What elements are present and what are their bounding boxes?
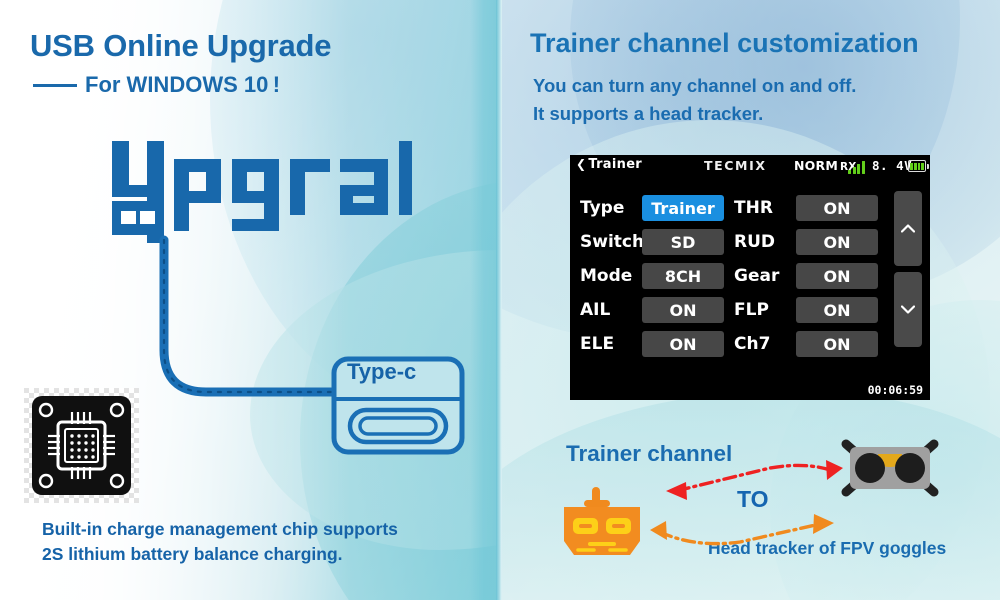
row-label-left: ELE <box>580 334 642 354</box>
row-value-left[interactable]: ON <box>642 331 724 357</box>
arrow-orange-dashdot-icon <box>650 514 834 544</box>
row-label-right: THR <box>724 198 796 218</box>
screen-status-bar: ❮Trainer TECMIX NORMRX 8. 4V <box>570 155 930 179</box>
mode-text: NORM <box>794 158 838 173</box>
chip-icon <box>24 388 139 508</box>
row-value-right[interactable]: ON <box>796 263 878 289</box>
right-title: Trainer channel customization <box>530 28 919 59</box>
chevron-down-icon <box>901 305 915 314</box>
row-label-right: FLP <box>724 300 796 320</box>
type-c-port-icon: Type-c <box>330 355 470 465</box>
right-subtitle-line1: You can turn any channel on and off. <box>533 72 856 100</box>
right-subtitle-line2: It supports a head tracker. <box>533 100 856 128</box>
table-row: AIL ON FLP ON <box>580 293 884 327</box>
back-button-label: Trainer <box>588 157 642 172</box>
settings-grid: Type Trainer THR ON Switch SD RUD ON Mod… <box>580 191 884 361</box>
row-label-left: AIL <box>580 300 642 320</box>
row-value-left[interactable]: SD <box>642 229 724 255</box>
left-caption: Built-in charge management chip supports… <box>42 517 398 568</box>
battery-full-icon <box>908 160 926 172</box>
row-value-left[interactable]: ON <box>642 297 724 323</box>
scroll-buttons <box>894 191 922 347</box>
row-value-left[interactable]: Trainer <box>642 195 724 221</box>
row-label-right: Gear <box>724 266 796 286</box>
row-label-right: RUD <box>724 232 796 252</box>
usb-cable-icon <box>0 0 500 600</box>
connector-label: Type-c <box>347 359 416 385</box>
left-caption-line1: Built-in charge management chip supports <box>42 517 398 542</box>
table-row: Switch SD RUD ON <box>580 225 884 259</box>
scroll-up-button[interactable] <box>894 191 922 266</box>
row-value-right[interactable]: ON <box>796 195 878 221</box>
back-button[interactable]: ❮Trainer <box>576 157 642 172</box>
table-row: ELE ON Ch7 ON <box>580 327 884 361</box>
row-label-right: Ch7 <box>724 334 796 354</box>
right-subtitle: You can turn any channel on and off. It … <box>533 72 856 128</box>
chevron-left-icon: ❮ <box>576 157 586 171</box>
row-value-right[interactable]: ON <box>796 297 878 323</box>
signal-bars-icon <box>848 161 865 174</box>
fpv-goggles-icon <box>838 436 942 505</box>
table-row: Mode 8CH Gear ON <box>580 259 884 293</box>
row-label-left: Switch <box>580 232 642 252</box>
row-label-left: Type <box>580 198 642 218</box>
promo-graphic: USB Online Upgrade For WINDOWS 10 ! <box>0 0 1000 600</box>
chevron-up-icon <box>901 224 915 233</box>
row-value-left[interactable]: 8CH <box>642 263 724 289</box>
arrow-red-dashdot-icon <box>666 460 843 500</box>
table-row: Type Trainer THR ON <box>580 191 884 225</box>
radio-screen: ❮Trainer TECMIX NORMRX 8. 4V Type Traine… <box>570 155 930 400</box>
left-caption-line2: 2S lithium battery balance charging. <box>42 542 398 567</box>
row-label-left: Mode <box>580 266 642 286</box>
row-value-right[interactable]: ON <box>796 331 878 357</box>
row-value-right[interactable]: ON <box>796 229 878 255</box>
mix-label: TECMIX <box>704 158 767 173</box>
voltage-readout: 8. 4V <box>872 158 912 173</box>
scroll-down-button[interactable] <box>894 272 922 347</box>
session-timer: 00:06:59 <box>868 383 923 397</box>
rc-transmitter-icon <box>560 487 644 564</box>
